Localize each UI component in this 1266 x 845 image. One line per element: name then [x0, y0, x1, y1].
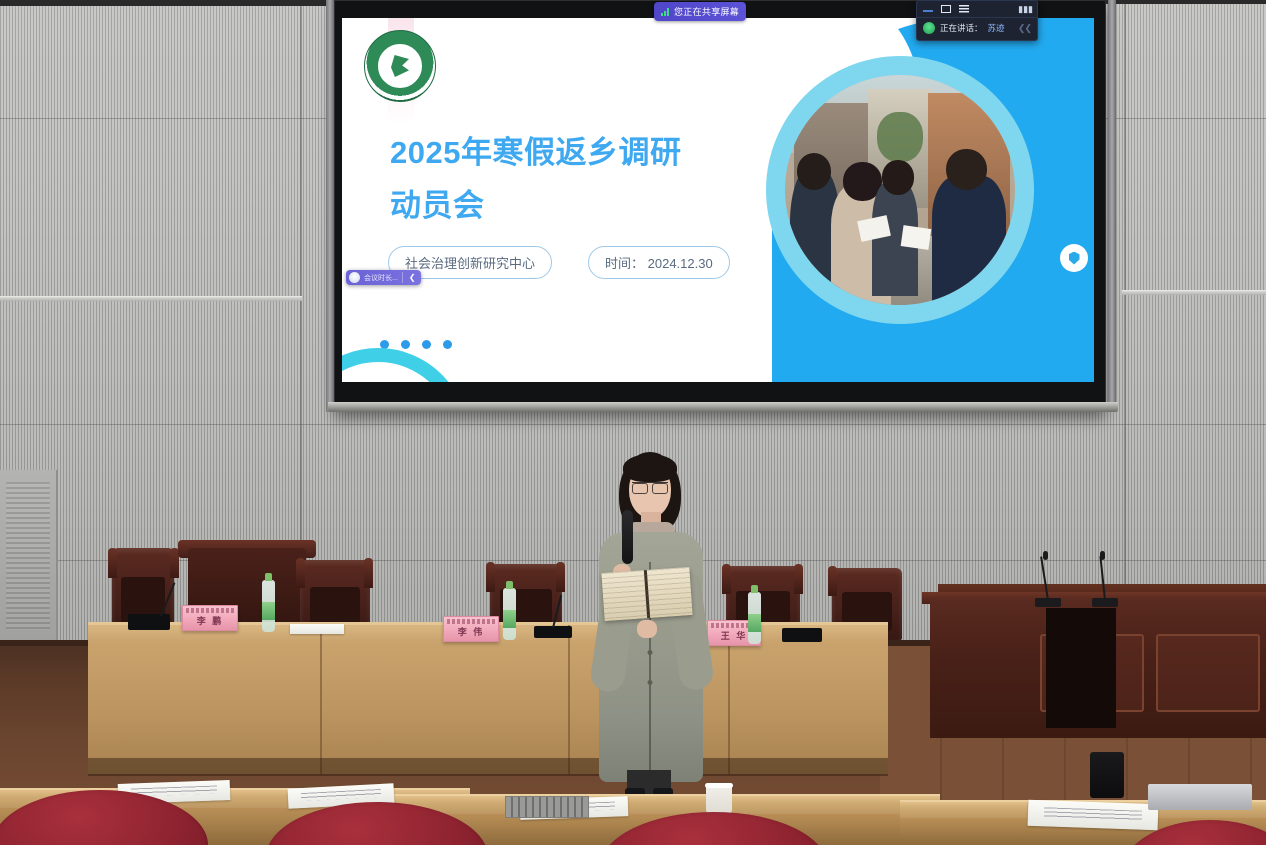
microphone-head — [1100, 551, 1105, 560]
name-card-text: 李 鹏 — [183, 614, 237, 627]
chair-post — [486, 562, 495, 592]
chair-post — [828, 566, 837, 596]
name-card-text: 李 伟 — [444, 625, 498, 638]
water-bottle — [262, 580, 275, 632]
conference-room-scene: 2025年寒假返乡调研 动员会 社会治理创新研究中心 时间： 2024.12.3… — [0, 0, 1266, 845]
wall-seam-vertical — [1124, 0, 1126, 640]
projection-screen: 2025年寒假返乡调研 动员会 社会治理创新研究中心 时间： 2024.12.3… — [334, 0, 1106, 412]
bench-panel — [1156, 634, 1260, 712]
wall-rail — [1122, 290, 1266, 295]
shield-icon — [1060, 244, 1088, 272]
slide-pill-group: 社会治理创新研究中心 时间： 2024.12.30 — [388, 246, 730, 279]
wall-seam — [0, 424, 1266, 425]
desk-microphone-base — [782, 628, 822, 642]
water-bottle — [748, 592, 761, 644]
open-notebook — [601, 567, 692, 621]
meeting-panel-titlebar[interactable]: ▮▮▮ — [917, 1, 1037, 18]
menu-icon[interactable] — [959, 5, 969, 13]
minimize-icon[interactable] — [923, 10, 933, 12]
chair-post — [364, 558, 373, 588]
share-badge-label: 您正在共享屏幕 — [674, 5, 739, 18]
mini-toolbar-label: 会议时长... — [364, 273, 398, 283]
slide-title: 2025年寒假返乡调研 动员会 — [390, 126, 730, 232]
meeting-mini-toolbar[interactable]: 会议时长... ❮ — [346, 270, 421, 285]
head-table — [88, 622, 888, 774]
laptop — [1148, 784, 1252, 810]
meeting-floating-panel[interactable]: ▮▮▮ 正在讲话： 苏迹 ❮❮ — [916, 0, 1038, 41]
paper-handout — [1028, 800, 1159, 831]
audience-desk — [380, 794, 940, 816]
ceiling-strip — [0, 0, 340, 6]
paper-handout — [290, 624, 344, 634]
eyeglasses — [632, 482, 668, 491]
head-table-shadow — [88, 758, 888, 776]
screen-frame — [328, 402, 1118, 412]
presentation-slide: 2025年寒假返乡调研 动员会 社会治理创新研究中心 时间： 2024.12.3… — [342, 18, 1094, 382]
ceiling-strip — [1104, 0, 1266, 4]
signal-bars-icon — [661, 8, 669, 16]
name-card: 李 伟 — [443, 616, 499, 642]
collapse-toolbar-icon[interactable]: ❮ — [407, 273, 418, 282]
active-speaker-row[interactable]: 正在讲话： 苏迹 ❮❮ — [917, 18, 1037, 40]
desk-microphone-base — [128, 614, 170, 630]
speaking-label: 正在讲话： — [940, 22, 983, 34]
handheld-microphone — [622, 510, 633, 564]
participant-avatar-icon[interactable] — [349, 272, 360, 283]
collapse-panel-icon[interactable]: ❮❮ — [1018, 23, 1031, 34]
slide-pill-date: 时间： 2024.12.30 — [588, 246, 730, 279]
chair-post — [556, 562, 565, 592]
microphone-active-icon — [923, 22, 935, 34]
slide-arc-decoration — [342, 348, 468, 382]
slide-photo-students-survey — [785, 75, 1015, 305]
toolbar-divider — [402, 272, 403, 283]
university-emblem-icon — [364, 30, 436, 102]
screen-side-rail — [326, 0, 334, 412]
chair-post — [794, 564, 803, 594]
speaking-name: 苏迹 — [988, 22, 1005, 34]
waste-bin — [1090, 752, 1124, 798]
floor-vent — [505, 796, 589, 818]
name-card: 李 鹏 — [182, 605, 238, 631]
chair-post — [296, 558, 305, 588]
water-bottle — [503, 588, 516, 640]
bench-equipment-box — [1046, 608, 1116, 728]
wall-rail — [0, 296, 302, 301]
screen-side-rail — [1108, 0, 1116, 412]
microphone-head — [1043, 551, 1048, 560]
restore-window-icon[interactable] — [941, 5, 951, 13]
network-icon: ▮▮▮ — [1018, 4, 1033, 15]
chair-post — [108, 548, 117, 578]
slide-dot-decoration — [380, 340, 452, 349]
presenter-person — [575, 452, 725, 792]
screen-share-status-badge[interactable]: 您正在共享屏幕 — [654, 2, 746, 21]
